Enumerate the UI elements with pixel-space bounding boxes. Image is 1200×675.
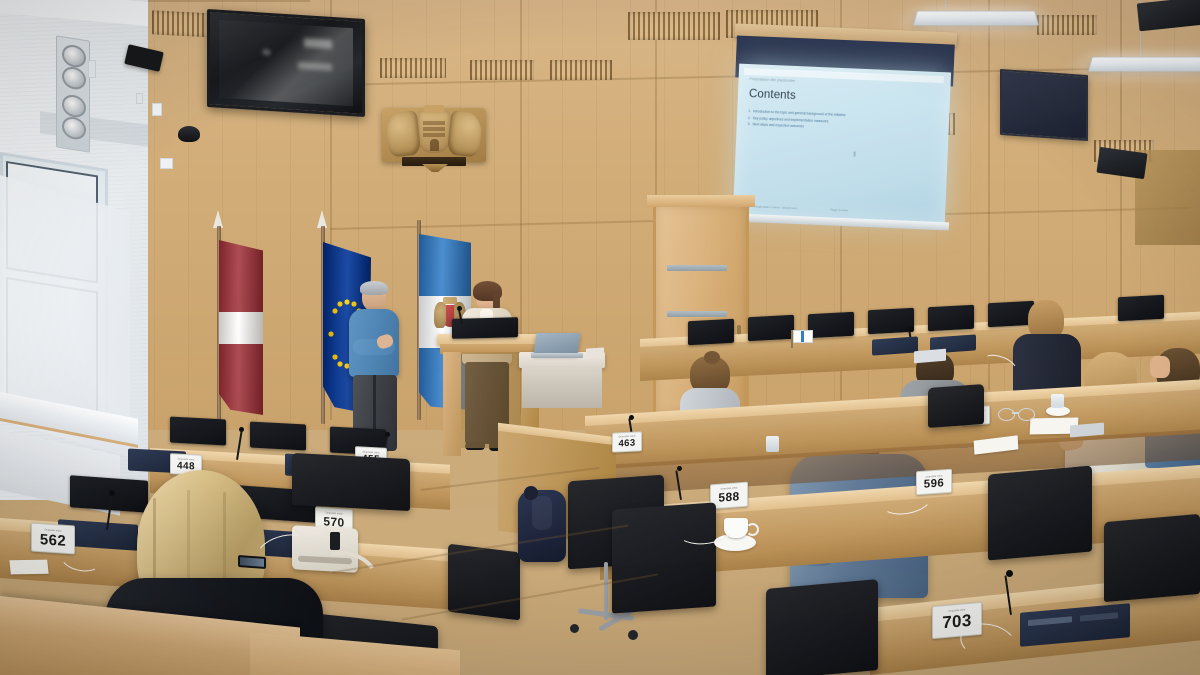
backpack <box>518 490 566 562</box>
spotlight-icon <box>62 115 86 141</box>
ceiling-lamp <box>1088 57 1200 72</box>
plate-number: 463 <box>618 438 635 450</box>
camera-icon <box>178 126 200 142</box>
laptop-keyboard[interactable] <box>531 353 583 358</box>
desk-plate: Deputata vieta 463 <box>612 431 642 453</box>
desk-monitor[interactable] <box>868 308 914 334</box>
shield-icon <box>418 111 450 153</box>
chair[interactable] <box>988 465 1092 560</box>
lion-left-icon <box>385 110 421 157</box>
spotlight-icon <box>62 93 86 119</box>
backpack-pocket <box>532 496 552 530</box>
wall-thermostat[interactable] <box>160 158 173 169</box>
side-display-panel[interactable] <box>1000 69 1088 141</box>
eyeglasses <box>998 408 1034 420</box>
microphone-head <box>677 466 682 471</box>
bag-accent <box>330 532 340 550</box>
water-glass <box>1051 394 1064 408</box>
plate-number: 562 <box>40 531 66 550</box>
microphone-head <box>239 427 244 432</box>
cup-handle <box>746 523 759 536</box>
flag-latvia <box>186 210 278 425</box>
emblem-pendant <box>422 164 448 172</box>
chair-caster <box>628 630 638 640</box>
chair-caster <box>570 624 579 633</box>
gate-icon <box>430 139 439 151</box>
desk-monitor[interactable] <box>1118 295 1164 321</box>
tv-screen-reflection <box>219 20 353 106</box>
acoustic-vent <box>1037 15 1097 35</box>
laptop-screen[interactable] <box>533 333 580 355</box>
slide-title: Contents <box>749 87 935 109</box>
door-lintel <box>647 195 755 207</box>
desk-monitor[interactable] <box>688 319 734 345</box>
spotlight-icon <box>62 43 86 69</box>
desk-monitor[interactable] <box>928 305 974 331</box>
desk-monitor[interactable] <box>170 417 226 446</box>
chair[interactable] <box>1104 514 1200 602</box>
water-glass <box>766 436 779 452</box>
conference-hall-photo: Presentation title placeholder Contents … <box>0 0 1200 675</box>
table-flag-pole <box>791 330 793 348</box>
microphone-head <box>1006 570 1013 577</box>
tv-glare <box>304 38 331 48</box>
lamp-wire <box>945 0 946 8</box>
hair-bun <box>704 351 720 364</box>
control-display <box>1028 616 1072 626</box>
door-vision-strip <box>667 265 727 271</box>
backpack-strap <box>524 486 538 500</box>
wall-television[interactable] <box>207 9 365 117</box>
bullet-number: 1. <box>748 109 751 113</box>
bullet-number: 2. <box>748 116 751 120</box>
wall-seam <box>140 0 310 2</box>
microphone-head <box>457 306 462 311</box>
slide-footer-right: Page number <box>830 208 848 212</box>
microphone-head <box>909 327 914 332</box>
papers-on-table <box>586 347 604 358</box>
microphone-head <box>629 415 634 420</box>
spotlight-rail <box>56 35 90 152</box>
flag-cloth <box>219 240 263 415</box>
coat-of-arms-relief <box>374 100 494 172</box>
desk-monitor[interactable] <box>748 315 794 341</box>
bullet-text: Next steps and expected outcomes <box>752 122 804 128</box>
light-switch[interactable] <box>88 60 96 78</box>
bullet-number: 3. <box>748 122 751 126</box>
paper-sheet <box>9 560 48 575</box>
microphone-head <box>385 432 390 437</box>
table-flag <box>793 330 813 343</box>
acoustic-vent <box>470 60 534 80</box>
projection-screen-group: Presentation title placeholder Contents … <box>730 18 970 250</box>
desk-monitor[interactable] <box>808 312 854 338</box>
plate-number: 588 <box>718 489 739 504</box>
spotlight-icon <box>62 65 86 91</box>
desk-monitor[interactable] <box>250 422 306 451</box>
desk-control-unit[interactable] <box>872 336 918 355</box>
chair[interactable] <box>928 384 984 428</box>
face <box>1150 356 1170 378</box>
acoustic-vent <box>380 58 446 78</box>
slide-footer-left: Organisation name / department <box>754 205 797 210</box>
wall-socket[interactable] <box>136 93 143 104</box>
control-buttons <box>1080 612 1118 621</box>
acoustic-vent <box>550 60 612 80</box>
slide-cursor <box>853 151 855 156</box>
wall-switch[interactable] <box>152 103 162 116</box>
projection-surface: Presentation title placeholder Contents … <box>733 64 951 225</box>
chair[interactable] <box>766 579 878 675</box>
acoustic-vent <box>628 12 720 40</box>
hair <box>360 281 388 295</box>
